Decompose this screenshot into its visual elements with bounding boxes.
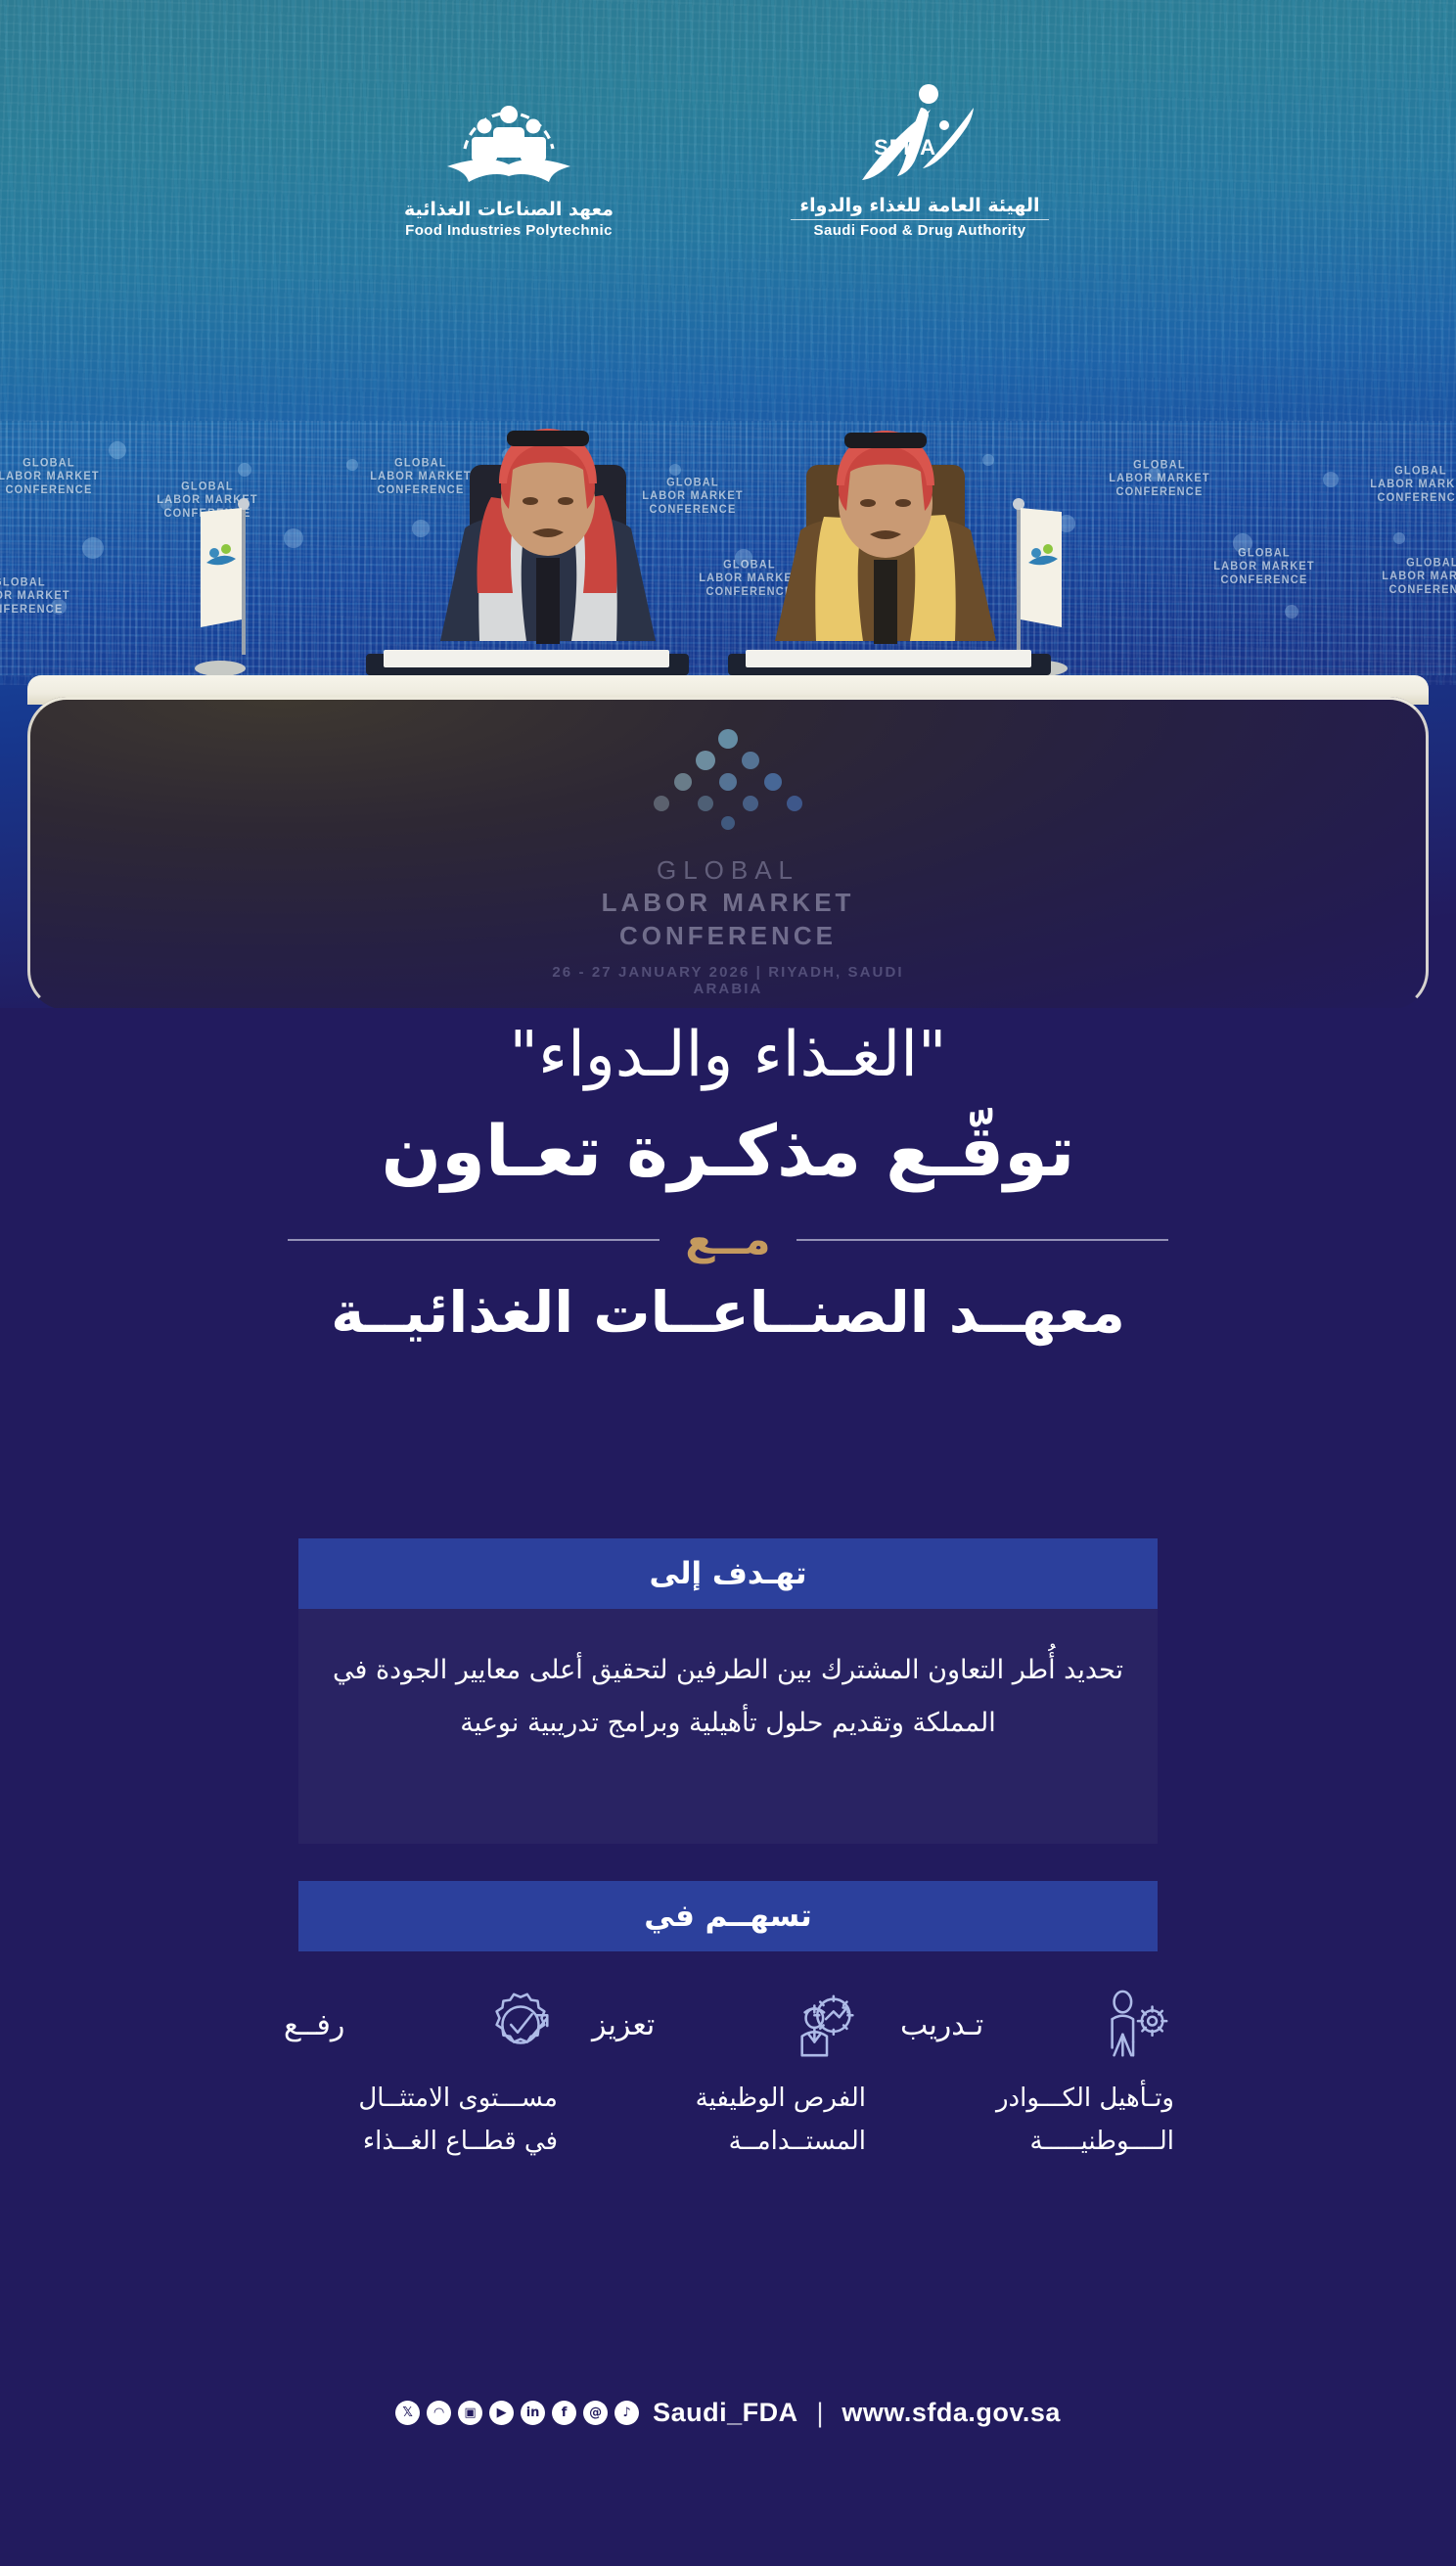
header-logos: معهد الصناعات الغذائية Food Industries P… [0, 98, 1456, 284]
glmc-line1: GLOBAL [518, 854, 938, 886]
person-gear-icon [1098, 1987, 1174, 2063]
threads-icon[interactable]: @ [583, 2401, 608, 2425]
logo-sfda-arabic: الهيئة العامة للغذاء والدواء [773, 195, 1067, 216]
goal-body-text: تحديد أُطر التعاون المشترك بين الطرفين ل… [298, 1609, 1158, 1783]
snapchat-icon[interactable]: ◠ [427, 2401, 451, 2425]
website-url[interactable]: www.sfda.gov.sa [842, 2398, 1061, 2428]
goal-banner: تهـدف إلى [298, 1538, 1158, 1609]
logo-sfda: SFDA الهيئة العامة للغذاء والدواء Saudi … [773, 78, 1067, 239]
footer-bar: 𝕏 ◠ ▣ ▶ in f @ ♪ Saudi_FDA | www.sfda.go… [0, 2398, 1456, 2428]
logo-sfda-divider [791, 219, 1049, 220]
headline-connector-row: مــع [288, 1214, 1168, 1264]
logo-sfda-english: Saudi Food & Drug Authority [773, 222, 1067, 239]
glmc-details: 26 - 27 JANUARY 2026 | RIYADH, SAUDI ARA… [518, 964, 938, 997]
contribute-line-2: وتـأهيل الكـــوادر [900, 2077, 1174, 2120]
x-icon[interactable]: 𝕏 [395, 2401, 420, 2425]
svg-text:SFDA: SFDA [874, 135, 936, 160]
contribute-keyword: تـدريب [900, 2008, 983, 2042]
contribute-item-header: تعزيز [592, 1987, 866, 2063]
glmc-line2: LABOR MARKET [518, 886, 938, 919]
contribute-item-compliance: رفــع مســـتوى الامتثــال في قطــاع الغـ… [284, 1987, 558, 2163]
food-industries-polytechnic-logo-icon [426, 98, 592, 192]
contribute-items: تـدريب وتـأهيل الكـــوادر الــــوطنيــــ… [284, 1987, 1174, 2163]
footer-separator: | [816, 2399, 825, 2428]
youtube-icon[interactable]: ▶ [489, 2401, 514, 2425]
worker-gear-arrow-icon [790, 1987, 866, 2063]
social-handle[interactable]: Saudi_FDA [653, 2398, 798, 2428]
contribute-line-2: الفرص الوظيفية [592, 2077, 866, 2120]
headline-connector: مــع [685, 1214, 770, 1264]
glmc-dots-icon [650, 729, 806, 837]
contribute-line-3: في قطــاع الغــذاء [284, 2120, 558, 2163]
goal-banner-label: تهـدف إلى [649, 1556, 806, 1591]
connector-rule-right [796, 1239, 1168, 1241]
headline-block: "الغـذاء والـدواء" توقّـع مذكـرة تعـاون … [0, 1013, 1456, 1352]
glmc-line3: CONFERENCE [518, 919, 938, 952]
poster-root: GLOBALLABOR MARKETCONFERENCE GLOBALLABOR… [0, 0, 1456, 2566]
headline-line-2: توقّـع مذكـرة تعـاون [0, 1103, 1456, 1199]
instagram-icon[interactable]: ▣ [458, 2401, 482, 2425]
signing-photo: GLOBALLABOR MARKETCONFERENCE GLOBALLABOR… [0, 0, 1456, 1008]
tiktok-icon[interactable]: ♪ [614, 2401, 639, 2425]
contribute-line-2: مســـتوى الامتثــال [284, 2077, 558, 2120]
connector-rule-left [288, 1239, 660, 1241]
logo-fip-english: Food Industries Polytechnic [372, 222, 646, 239]
glmc-emblem: GLOBAL LABOR MARKET CONFERENCE 26 - 27 J… [518, 729, 938, 997]
contribute-keyword: رفــع [284, 2008, 344, 2042]
contribute-item-header: رفــع [284, 1987, 558, 2063]
logo-food-industries-polytechnic: معهد الصناعات الغذائية Food Industries P… [372, 98, 646, 239]
contribute-item-training: تـدريب وتـأهيل الكـــوادر الــــوطنيــــ… [900, 1987, 1174, 2163]
contribute-keyword: تعزيز [592, 2008, 655, 2042]
social-icons: 𝕏 ◠ ▣ ▶ in f @ ♪ [395, 2401, 639, 2425]
logo-fip-arabic: معهد الصناعات الغذائية [372, 199, 646, 220]
contribute-banner-label: تسهــم في [644, 1899, 812, 1934]
contribute-line-3: المستــدامــة [592, 2120, 866, 2163]
linkedin-icon[interactable]: in [521, 2401, 545, 2425]
desk-flag-left [191, 494, 298, 690]
sfda-logo-icon: SFDA [827, 78, 1013, 188]
contribute-item-header: تـدريب [900, 1987, 1174, 2063]
contribute-banner: تسهــم في [298, 1881, 1158, 1951]
contribute-item-jobs: تعزيز الفرص الوظيفية المستــدامــة [592, 1987, 866, 2163]
contribute-line-3: الــــوطنيـــــة [900, 2120, 1174, 2163]
headline-line-1: "الغـذاء والـدواء" [0, 1013, 1456, 1097]
gear-check-arrow-icon [481, 1987, 558, 2063]
facebook-icon[interactable]: f [552, 2401, 576, 2425]
headline-line-3: معهــد الصنــاعــات الغذائيــة [0, 1272, 1456, 1352]
goal-panel: تحديد أُطر التعاون المشترك بين الطرفين ل… [298, 1609, 1158, 1844]
